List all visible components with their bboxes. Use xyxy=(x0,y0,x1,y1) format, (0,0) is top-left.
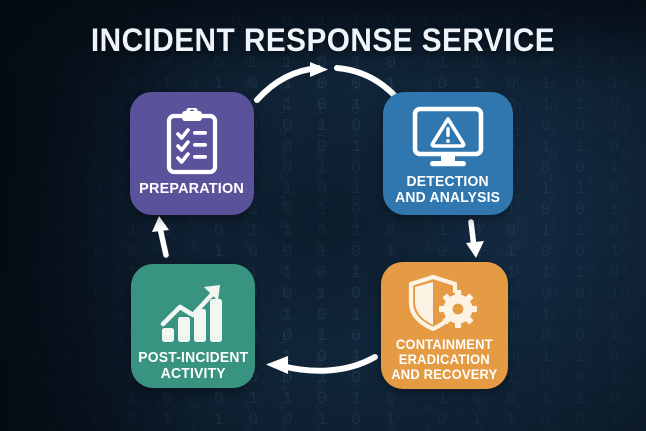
page-title: INCIDENT RESPONSE SERVICE xyxy=(23,22,624,59)
node-containment-label: CONTAINMENT ERADICATION AND RECOVERY xyxy=(391,337,497,382)
clipboard-checklist-icon xyxy=(163,106,221,178)
node-containment-eradication-recovery[interactable]: CONTAINMENT ERADICATION AND RECOVERY xyxy=(381,262,508,389)
growth-chart-icon xyxy=(157,280,229,346)
node-detection-and-analysis[interactable]: DETECTION AND ANALYSIS xyxy=(383,92,513,215)
node-detection-and-analysis-label: DETECTION AND ANALYSIS xyxy=(396,174,501,206)
node-post-incident-activity-label: POST-INCIDENT ACTIVITY xyxy=(138,350,248,382)
background-overlay-gradient xyxy=(0,0,646,431)
monitor-warning-icon xyxy=(410,105,486,171)
node-preparation-label: PREPARATION xyxy=(140,181,245,198)
shield-gear-icon xyxy=(407,273,483,334)
node-post-incident-activity[interactable]: POST-INCIDENT ACTIVITY xyxy=(131,264,255,388)
incident-response-diagram: 1 0 0 1 1 0 0 1 1 0 1 0 1 0 0 1 1 0 0 1 … xyxy=(0,0,646,431)
node-preparation[interactable]: PREPARATION xyxy=(130,92,254,215)
